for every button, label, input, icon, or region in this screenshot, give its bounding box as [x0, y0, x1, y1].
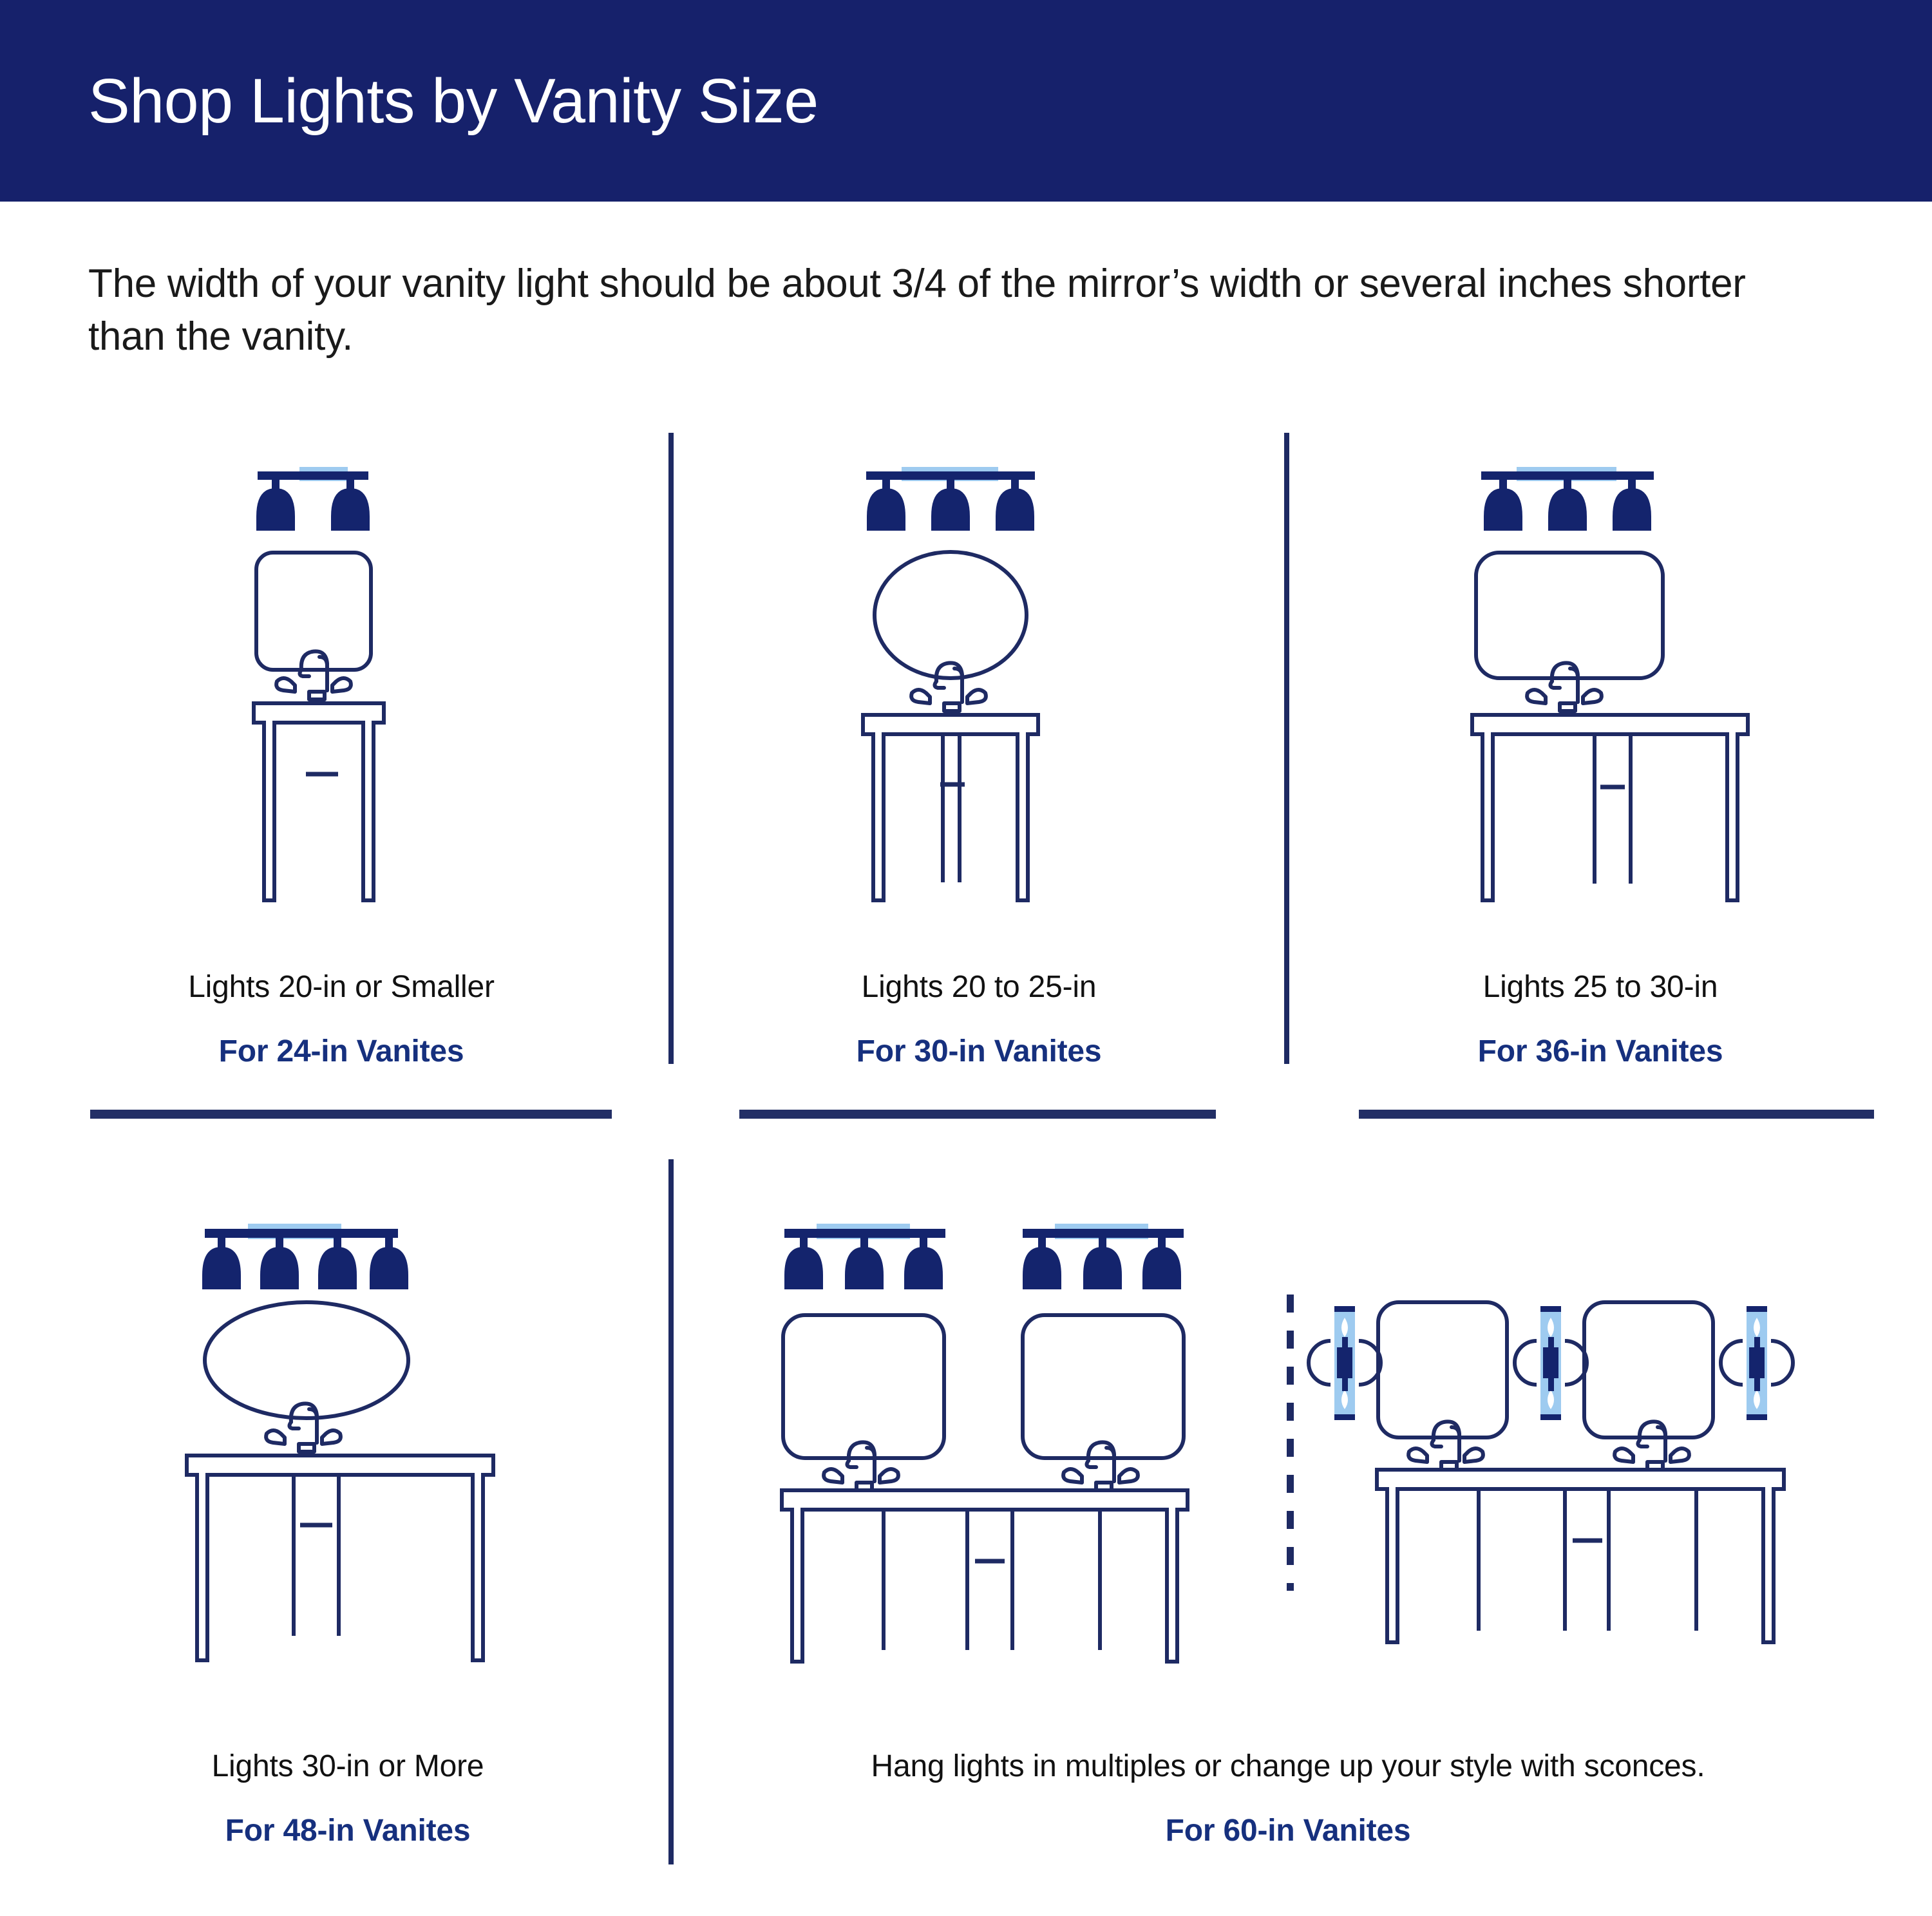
vanity-cabinet [863, 715, 1038, 900]
mirror-right [1023, 1315, 1184, 1458]
faucet [266, 1403, 341, 1452]
bar-light-fixture-left [784, 1224, 945, 1289]
sconce-right [1721, 1306, 1793, 1420]
bar-light-fixture-4 [202, 1224, 408, 1289]
light-stem [1158, 1234, 1166, 1248]
light-shade [318, 1247, 357, 1289]
light-shade [1083, 1247, 1122, 1289]
light-stem [1038, 1234, 1046, 1248]
sconce-stem [1754, 1337, 1760, 1391]
sconce-cap-bottom [1747, 1414, 1767, 1420]
faucet-right [1063, 1442, 1138, 1490]
panel-48-main-label: Lights 30-in or More [58, 1749, 638, 1784]
light-shade [1484, 488, 1522, 531]
sconce-cap-bottom [1540, 1414, 1561, 1420]
vanity-cabinet-double [782, 1490, 1188, 1662]
illustration-panel-60-sconces [1327, 1301, 1842, 1687]
faucet [911, 663, 986, 711]
sconce-backplate-left [1721, 1341, 1743, 1385]
vanity-cabinet [254, 703, 384, 900]
sconce-cap-top [1747, 1306, 1767, 1312]
illustration-panel-24 [245, 457, 515, 908]
vertical-divider-3 [668, 1159, 674, 1864]
light-shade [845, 1247, 884, 1289]
bar-light-fixture-3 [866, 467, 1035, 531]
horizontal-divider-2 [739, 1110, 1216, 1119]
vanity-cabinet [187, 1456, 493, 1660]
intro-paragraph: The width of your vanity light should be… [88, 258, 1827, 363]
bar-light-fixture-2 [256, 467, 370, 531]
light-shade [331, 488, 370, 531]
dashed-divider [1287, 1295, 1294, 1591]
sconce-middle [1515, 1306, 1587, 1420]
light-rail [205, 1229, 398, 1238]
light-shade [784, 1247, 823, 1289]
faucet [276, 651, 351, 699]
light-shade [202, 1247, 241, 1289]
infographic-page: Shop Lights by Vanity Size The width of … [0, 0, 1932, 1916]
light-shade [1548, 488, 1587, 531]
vanity-cabinet-double [1377, 1470, 1784, 1642]
panel-60-main-label: Hang lights in multiples or change up yo… [702, 1749, 1874, 1784]
vanity-cabinet [1472, 715, 1748, 900]
mirror-left [1378, 1302, 1507, 1437]
light-shade [1023, 1247, 1061, 1289]
panel-36-main-label: Lights 25 to 30-in [1320, 969, 1880, 1005]
mirror-right [1584, 1302, 1713, 1437]
vertical-divider-1 [668, 433, 674, 1064]
sconce-backplate-right [1771, 1341, 1793, 1385]
sconce-cap-bottom [1334, 1414, 1355, 1420]
light-stem [1099, 1234, 1106, 1248]
light-shade [1613, 488, 1651, 531]
panel-24-main-label: Lights 20-in or Smaller [52, 969, 631, 1005]
panel-30-sub-label: For 30-in Vanites [702, 1034, 1256, 1069]
light-stem [860, 1234, 868, 1248]
page-header: Shop Lights by Vanity Size [0, 0, 1932, 202]
light-stem [920, 1234, 927, 1248]
bar-light-fixture-3 [1481, 467, 1654, 531]
light-shade [260, 1247, 299, 1289]
panel-36-sub-label: For 36-in Vanites [1320, 1034, 1880, 1069]
illustration-panel-48 [180, 1217, 528, 1694]
light-shade [996, 488, 1034, 531]
light-stem [276, 1234, 283, 1248]
page-title: Shop Lights by Vanity Size [0, 70, 819, 132]
light-shade [931, 488, 970, 531]
mirror-rounded-rect-wide [1476, 553, 1663, 678]
light-stem [800, 1234, 808, 1248]
illustration-panel-36 [1468, 457, 1771, 908]
light-shade [1142, 1247, 1181, 1289]
sconce-stem [1548, 1337, 1554, 1391]
light-shade [370, 1247, 408, 1289]
sconce-backplate-left [1515, 1341, 1537, 1385]
panel-30-main-label: Lights 20 to 25-in [702, 969, 1256, 1005]
light-stem [385, 1234, 393, 1248]
mirror-left [783, 1315, 944, 1458]
mirror-ellipse [875, 552, 1027, 678]
sconce-cap-top [1540, 1306, 1561, 1312]
sconce-backplate-left [1309, 1341, 1331, 1385]
panel-48-sub-label: For 48-in Vanites [58, 1813, 638, 1848]
light-stem [334, 1234, 341, 1248]
horizontal-divider-1 [90, 1110, 612, 1119]
faucet-right [1615, 1421, 1689, 1470]
faucet-left [1408, 1421, 1483, 1470]
panel-24-sub-label: For 24-in Vanites [52, 1034, 631, 1069]
horizontal-divider-3 [1359, 1110, 1874, 1119]
panel-60-sub-label: For 60-in Vanites [702, 1813, 1874, 1848]
sconce-stem [1342, 1337, 1348, 1391]
illustration-panel-60-bar [773, 1217, 1224, 1694]
light-shade [867, 488, 905, 531]
faucet [1527, 663, 1602, 711]
bar-light-fixture-right [1023, 1224, 1184, 1289]
light-stem [218, 1234, 225, 1248]
vertical-divider-2 [1284, 433, 1289, 1064]
sconce-cap-top [1334, 1306, 1355, 1312]
light-shade [256, 488, 295, 531]
faucet-left [824, 1442, 898, 1490]
illustration-panel-30 [857, 457, 1127, 908]
light-shade [904, 1247, 943, 1289]
sconce-left [1309, 1306, 1381, 1420]
mirror-ellipse-wide [205, 1302, 408, 1418]
